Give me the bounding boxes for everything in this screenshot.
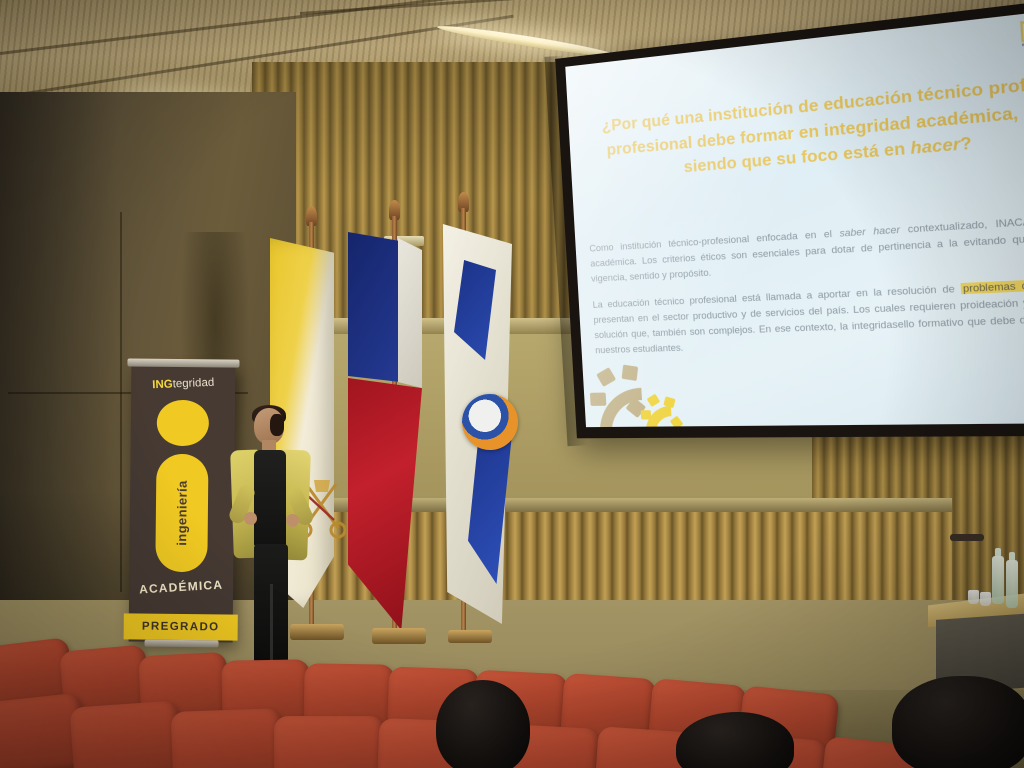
book-icon [1018,15,1024,49]
gears-icon [585,335,744,427]
paragraph1-segment-b: contextualizado, INACAP [900,215,1024,235]
chile-flag-canton [348,232,400,382]
slide-title-emphasis: hacer [910,135,961,158]
banner-footer-label: PREGRADO [142,621,220,634]
chile-flag-red-band [348,378,422,630]
auditorium-seat [274,716,384,768]
banner-top-rail [127,358,239,367]
slide-title-line-3-after: ? [960,134,973,154]
slide-title: ¿Por qué una institución de educación té… [594,68,1024,187]
projection-screen: ¿Por qué una institución de educación té… [555,0,1024,438]
audience-member-head [436,680,530,768]
banner-academic-label: ACADÉMICA [129,577,234,597]
paragraph2-highlight: problemas co [960,280,1024,295]
auditorium-seat [69,700,182,768]
wall-crack [120,212,122,592]
banner-footer-band: PREGRADO [124,613,238,640]
water-bottle [1006,560,1018,608]
presenter-person [224,408,318,690]
flag-stand-base [448,630,492,643]
water-bottle [992,556,1004,604]
presenter-hair-side [270,414,284,436]
slide-surface: ¿Por qué una institución de educación té… [565,9,1024,427]
flag-stand-base [372,628,426,644]
rollup-banner: INGtegridad ingeniería ACADÉMICA PREGRAD… [129,365,236,642]
banner-brand-title: INGtegridad [131,376,235,392]
chile-flag-white-band [398,238,422,388]
banner-dot-shape [157,400,209,447]
drinking-glass [968,590,979,604]
presenter-torso [254,450,286,546]
auditorium-photo: ¿Por qué una institución de educación té… [0,0,1024,768]
presenter-hand-left [244,512,257,525]
banner-brand-ing: ING [152,378,173,391]
auditorium-seat [171,708,284,768]
presenter-hand-right [286,514,299,527]
banner-vertical-label: ingeniería [174,480,190,546]
slide-paragraph-1: Como institución técnico-profesional enf… [589,210,1024,287]
flag-chile [348,232,420,628]
audience-member-head [892,676,1024,768]
banner-pill-shape: ingeniería [155,454,208,573]
banner-brand-rest: tegridad [172,377,214,391]
presenter-leg-separation [270,584,273,666]
paragraph1-emphasis: saber hacer [839,224,900,239]
wall-mounted-strip [950,534,984,541]
flag-universidad-catolica [440,224,512,624]
banner-base-foot [145,640,219,648]
drinking-glass [980,592,991,606]
